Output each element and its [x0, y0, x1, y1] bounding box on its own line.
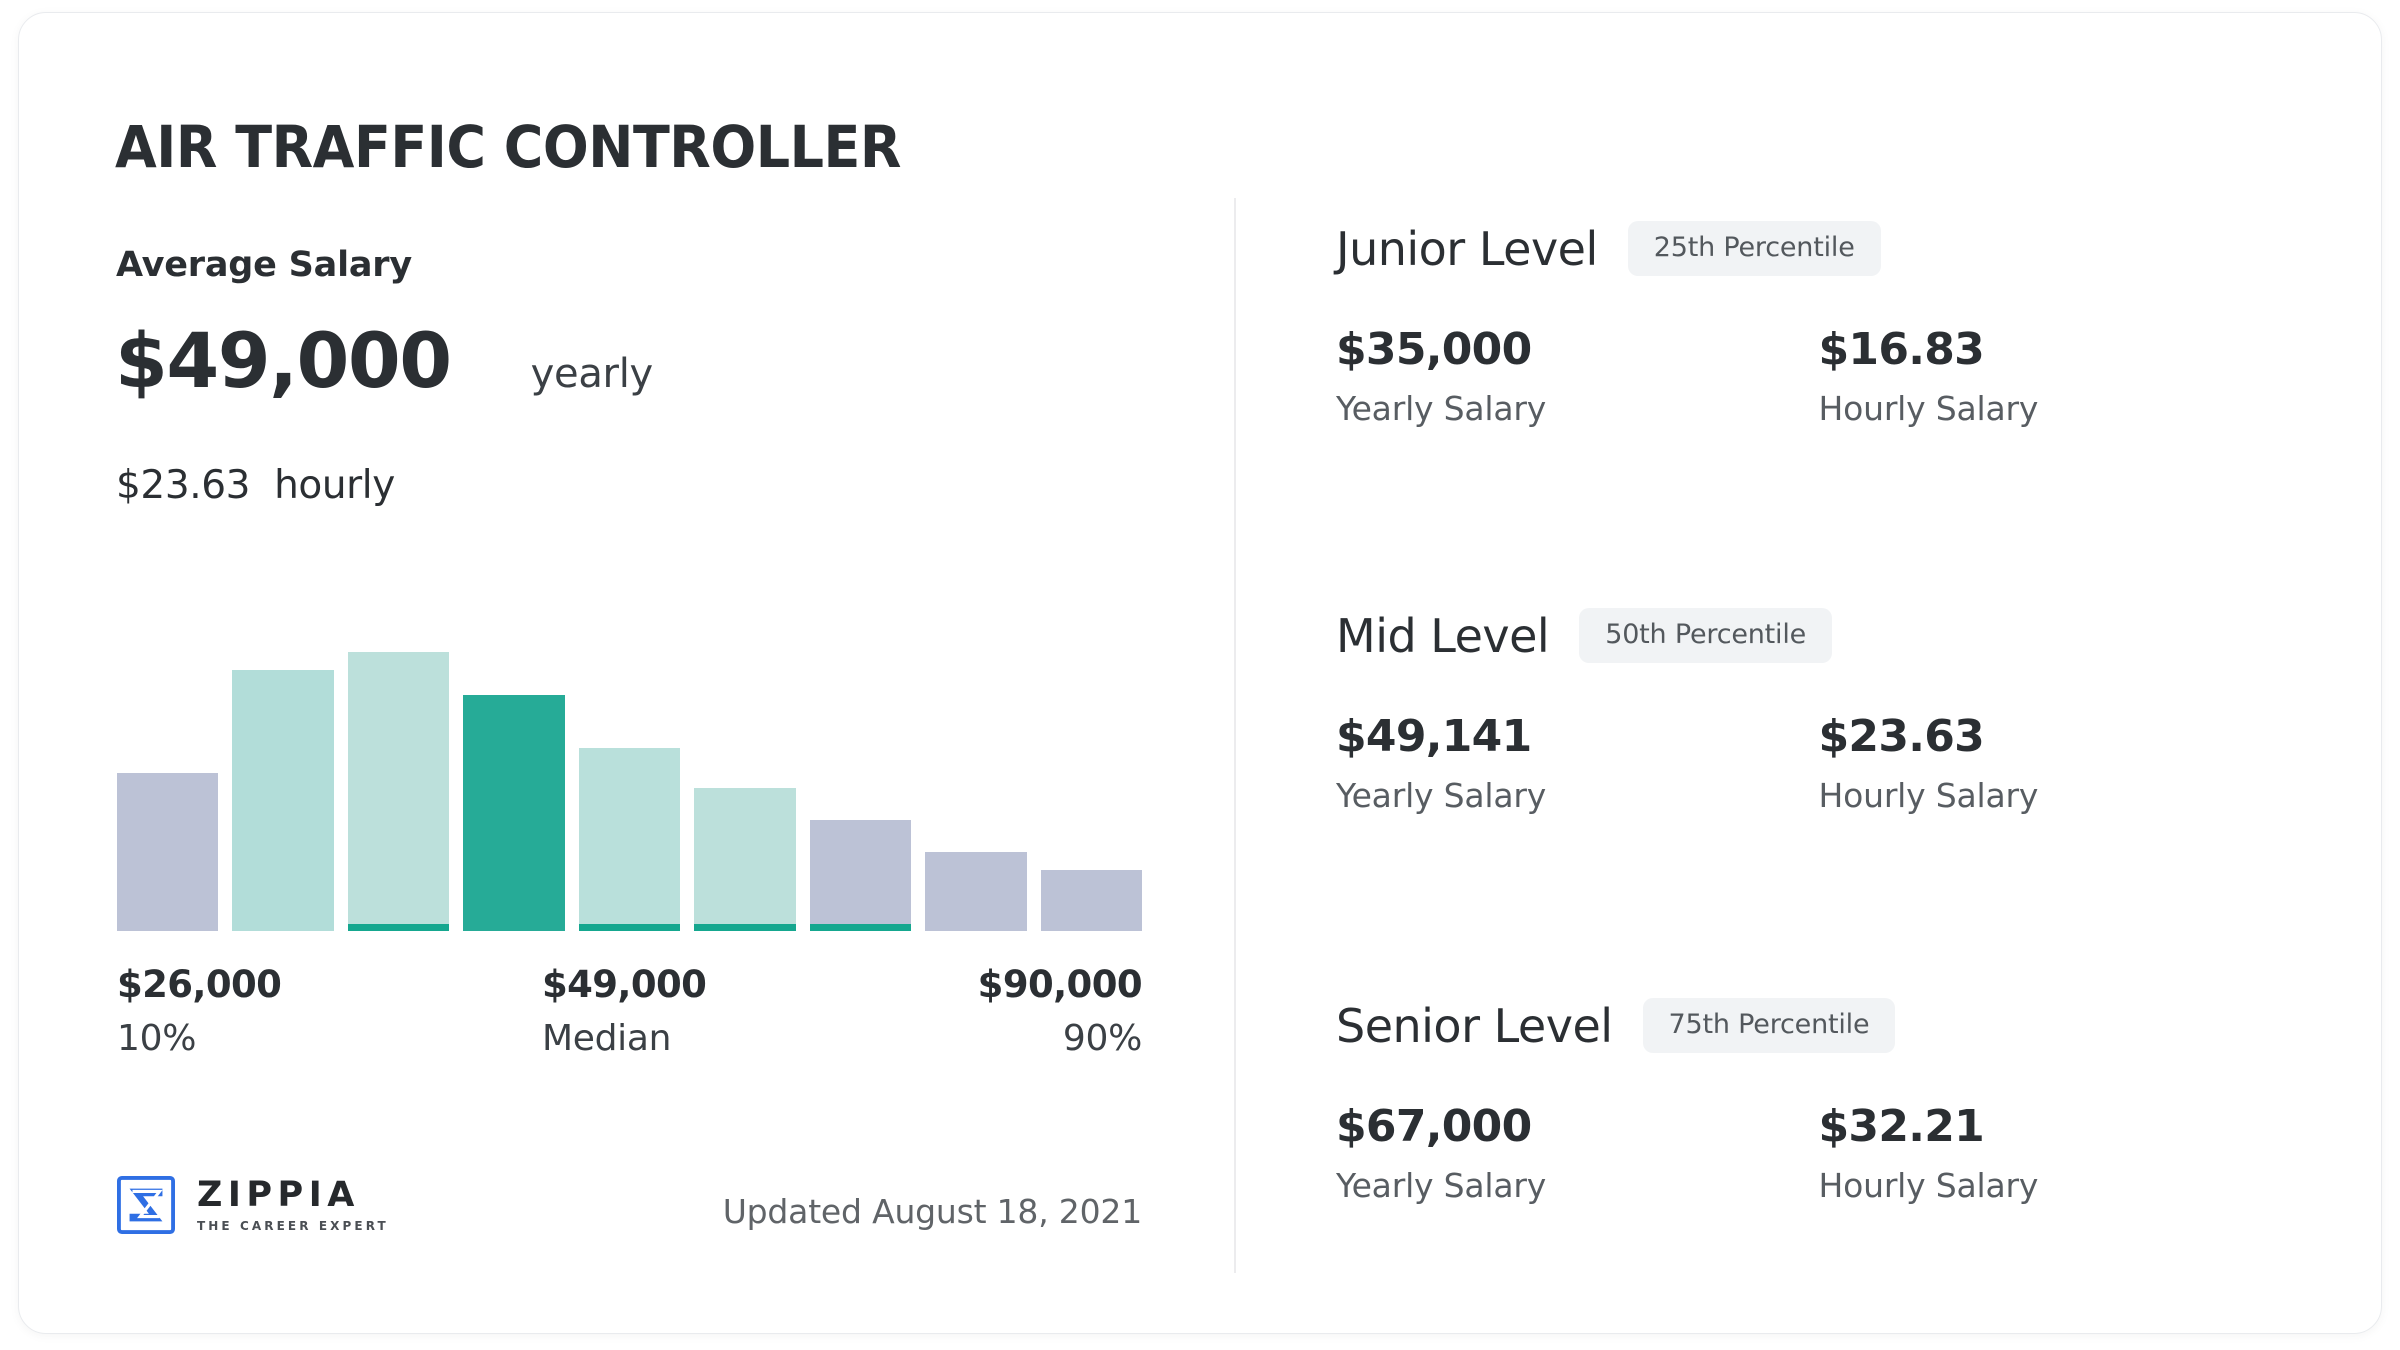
chart-bar [810, 820, 911, 931]
stat-hourly-label-senior: Hourly Salary [1819, 1169, 2302, 1202]
average-hourly-unit: hourly [274, 463, 395, 508]
average-yearly-value: $49,000 [115, 323, 451, 399]
axis-label-p10-value: $26,000 [117, 963, 281, 1006]
stat-hourly-value-mid: $23.63 [1819, 715, 2302, 759]
level-name-senior: Senior Level [1336, 999, 1613, 1053]
stat-yearly-label-junior: Yearly Salary [1336, 392, 1819, 425]
stat-hourly-value-junior: $16.83 [1819, 328, 2302, 372]
status-badge-senior: 75th Percentile [1643, 998, 1896, 1053]
chart-bar [1041, 870, 1142, 931]
chart-bar [694, 788, 795, 931]
level-stats-junior: $35,000 Yearly Salary $16.83 Hourly Sala… [1336, 328, 2301, 425]
chart-bar [925, 852, 1026, 931]
chart-axis-labels: $26,000 10% $49,000 Median $90,000 90% [117, 963, 1142, 1073]
zippia-logo-text: ZIPPIA THE CAREER EXPERT [197, 1178, 389, 1232]
salary-info-card: AIR TRAFFIC CONTROLLER Average Salary $4… [18, 12, 2382, 1334]
level-block-mid: Mid Level 50th Percentile $49,141 Yearly… [1336, 608, 2301, 812]
stat-yearly-value-junior: $35,000 [1336, 328, 1819, 372]
average-salary-label: Average Salary [116, 245, 412, 285]
status-badge-mid: 50th Percentile [1579, 608, 1832, 663]
chart-bar [463, 695, 564, 931]
stat-hourly-value-senior: $32.21 [1819, 1105, 2302, 1149]
average-yearly-row: $49,000 yearly [115, 323, 653, 399]
axis-label-median: $49,000 Median [542, 963, 706, 1059]
stat-hourly-label-junior: Hourly Salary [1819, 392, 2302, 425]
chart-bar [579, 748, 680, 931]
updated-timestamp: Updated August 18, 2021 [723, 1192, 1142, 1231]
status-badge-junior: 25th Percentile [1628, 221, 1881, 276]
zippia-logo-icon [117, 1176, 175, 1234]
level-header-junior: Junior Level 25th Percentile [1336, 221, 2301, 276]
stat-yearly-value-senior: $67,000 [1336, 1105, 1819, 1149]
level-name-mid: Mid Level [1336, 609, 1549, 663]
stat-hourly-mid: $23.63 Hourly Salary [1819, 715, 2302, 812]
zippia-wordmark: ZIPPIA [197, 1178, 389, 1213]
level-stats-mid: $49,141 Yearly Salary $23.63 Hourly Sala… [1336, 715, 2301, 812]
page-title: AIR TRAFFIC CONTROLLER [115, 113, 901, 181]
chart-bar [117, 773, 218, 931]
level-header-mid: Mid Level 50th Percentile [1336, 608, 2301, 663]
average-hourly-row: $23.63 hourly [116, 463, 395, 508]
left-panel: AIR TRAFFIC CONTROLLER Average Salary $4… [19, 13, 1234, 1333]
average-yearly-unit: yearly [531, 351, 653, 397]
stat-hourly-senior: $32.21 Hourly Salary [1819, 1105, 2302, 1202]
chart-bar [348, 652, 449, 931]
stat-hourly-label-mid: Hourly Salary [1819, 779, 2302, 812]
level-block-senior: Senior Level 75th Percentile $67,000 Yea… [1336, 998, 2301, 1202]
stat-yearly-value-mid: $49,141 [1336, 715, 1819, 759]
axis-label-p90: $90,000 90% [978, 963, 1142, 1059]
card-footer: ZIPPIA THE CAREER EXPERT Updated August … [117, 1168, 1142, 1268]
level-block-junior: Junior Level 25th Percentile $35,000 Yea… [1336, 221, 2301, 425]
stat-yearly-label-senior: Yearly Salary [1336, 1169, 1819, 1202]
axis-label-p10-sub: 10% [117, 1018, 281, 1059]
axis-label-p90-value: $90,000 [978, 963, 1142, 1006]
axis-label-p90-sub: 90% [978, 1018, 1142, 1059]
chart-bar [232, 670, 333, 931]
level-header-senior: Senior Level 75th Percentile [1336, 998, 2301, 1053]
level-name-junior: Junior Level [1336, 222, 1598, 276]
stat-yearly-senior: $67,000 Yearly Salary [1336, 1105, 1819, 1202]
stat-yearly-label-mid: Yearly Salary [1336, 779, 1819, 812]
stat-yearly-junior: $35,000 Yearly Salary [1336, 328, 1819, 425]
axis-label-median-sub: Median [542, 1018, 706, 1059]
level-stats-senior: $67,000 Yearly Salary $32.21 Hourly Sala… [1336, 1105, 2301, 1202]
stat-yearly-mid: $49,141 Yearly Salary [1336, 715, 1819, 812]
zippia-logo[interactable]: ZIPPIA THE CAREER EXPERT [117, 1176, 389, 1234]
salary-distribution-chart [117, 573, 1142, 931]
axis-label-median-value: $49,000 [542, 963, 706, 1006]
stat-hourly-junior: $16.83 Hourly Salary [1819, 328, 2302, 425]
zippia-tagline: THE CAREER EXPERT [197, 1220, 389, 1232]
axis-label-p10: $26,000 10% [117, 963, 281, 1059]
average-hourly-value: $23.63 [116, 463, 250, 508]
levels-panel: Junior Level 25th Percentile $35,000 Yea… [1234, 13, 2381, 1333]
